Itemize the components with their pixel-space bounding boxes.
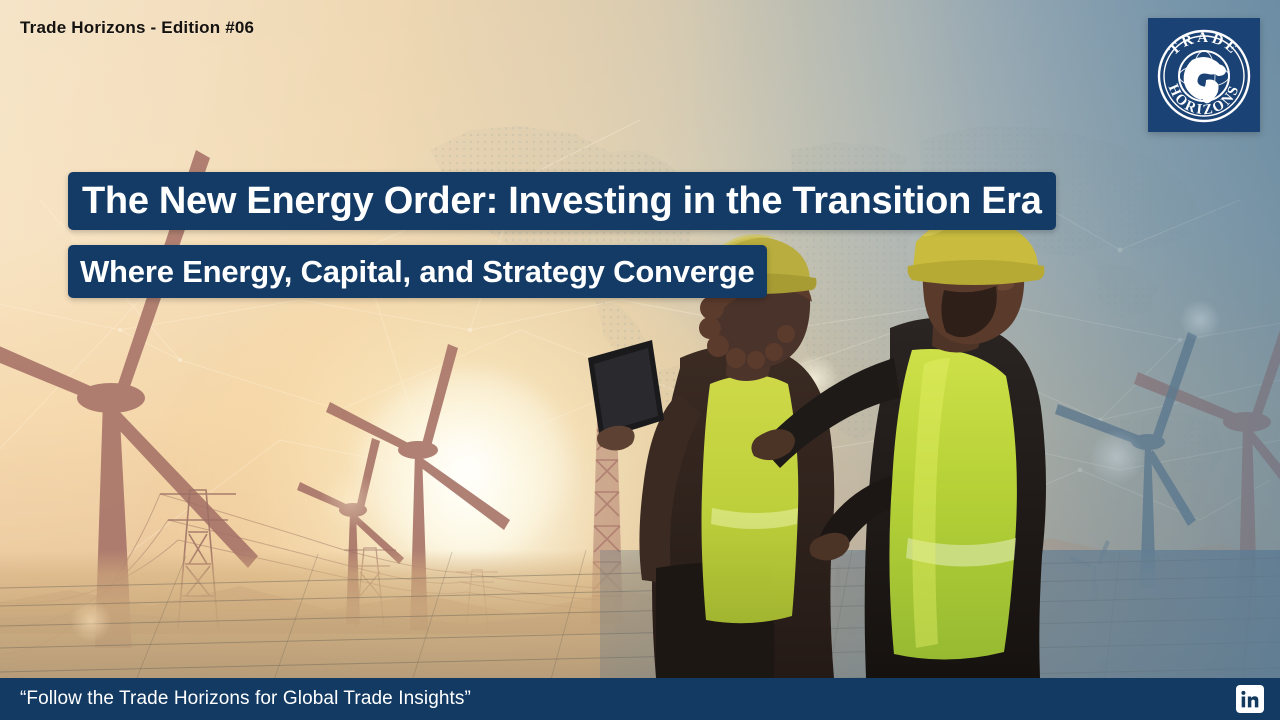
linkedin-icon[interactable]: [1236, 685, 1264, 713]
page-subtitle: Where Energy, Capital, and Strategy Conv…: [68, 245, 767, 298]
background-scene: [0, 0, 1280, 720]
svg-text:TRADE: TRADE: [1166, 30, 1242, 59]
worker-left: [588, 234, 834, 678]
trade-horizons-logo[interactable]: TRADE HORIZONS: [1148, 18, 1260, 132]
edition-label: Trade Horizons - Edition #06: [20, 18, 254, 38]
page-title: The New Energy Order: Investing in the T…: [68, 172, 1056, 230]
globe-icon: TRADE HORIZONS: [1148, 18, 1260, 132]
footer-bar: “Follow the Trade Horizons for Global Tr…: [0, 678, 1280, 720]
headline-block: The New Energy Order: Investing in the T…: [68, 172, 1056, 298]
poster-canvas: Trade Horizons - Edition #06 TRADE: [0, 0, 1280, 720]
logo-top-arc-text: TRADE: [1166, 30, 1242, 59]
footer-tagline: “Follow the Trade Horizons for Global Tr…: [20, 688, 471, 710]
